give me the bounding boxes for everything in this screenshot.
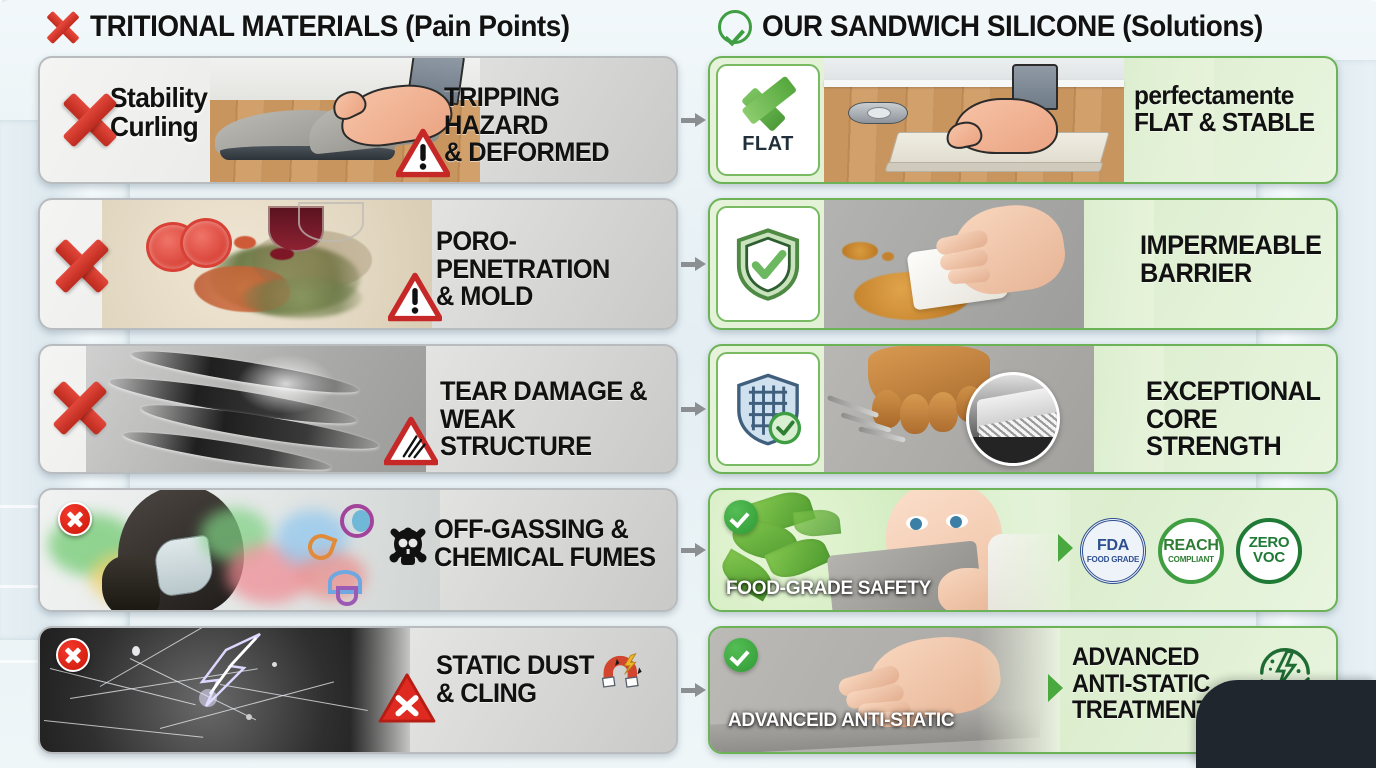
flow-arrow-row-4 — [681, 543, 705, 557]
red-x-circle-icon — [56, 638, 90, 672]
solution-card-impermeable: IMPERMEABLE BARRIER — [708, 198, 1338, 330]
cert-fda-line2: FOOD GRADE — [1087, 556, 1139, 565]
green-check-circle-icon — [724, 638, 758, 672]
food-grade-caption: FOOD-GRADE SAFETY — [726, 578, 931, 600]
header-problems: TRITIONAL MATERIALS (Pain Points) — [46, 2, 606, 52]
warning-exclamation-triangle-icon — [388, 272, 442, 322]
solution-card-food-grade: FOOD-GRADE SAFETY FDA FOOD GRADE REACH C… — [708, 488, 1338, 612]
problem-title-2: PORO-PENETRATION & MOLD — [436, 228, 662, 311]
cert-voc-line2: VOC — [1253, 550, 1285, 567]
red-x-icon — [46, 10, 80, 44]
hand-on-mat-art — [710, 628, 1060, 752]
red-x-icon — [54, 382, 106, 434]
header-problems-label: TRITIONAL MATERIALS (Pain Points) — [90, 10, 570, 44]
magnet-sparks-icon — [598, 652, 646, 700]
cert-reach-line2: COMPLIANT — [1168, 556, 1214, 565]
red-x-triangle-icon — [378, 672, 436, 724]
problem-title-3: TEAR DAMAGE & WEAK STRUCTURE — [440, 378, 662, 461]
flat-badge-label: FLAT — [742, 133, 794, 156]
flow-arrow-row-5 — [681, 683, 705, 697]
cert-zerovoc-badge: ZERO VOC — [1236, 518, 1302, 584]
problem-title-1: TRIPPING HAZARD & DEFORMED — [444, 84, 662, 167]
cert-fda-line1: FDA — [1097, 538, 1129, 554]
lightning-discharge-art — [160, 632, 280, 722]
red-x-circle-icon — [58, 502, 92, 536]
green-check-circle-icon — [718, 10, 752, 44]
solution-card-flat: FLAT perfectamente FLAT & STABLE — [708, 56, 1338, 184]
solution-card-core-strength: EXCEPTIONAL CORE STRENGTH — [708, 344, 1338, 474]
solution-title-2: IMPERMEABLE BARRIER — [1140, 232, 1321, 287]
warning-scratch-triangle-icon — [384, 416, 438, 466]
chemical-fumes-art — [40, 490, 440, 610]
flat-badge-tile: FLAT — [716, 64, 820, 176]
static-dust-art — [40, 628, 410, 752]
problem-title-5: STATIC DUST & CLING — [436, 652, 594, 707]
wipe-spill-art — [824, 200, 1084, 328]
stain-mold-art — [102, 200, 432, 328]
problem-title-4: OFF-GASSING & CHEMICAL FUMES — [434, 516, 655, 571]
antistatic-caption: ADVANCEID ANTI-STATIC — [728, 710, 954, 732]
robot-vacuum-art — [848, 102, 908, 124]
problem-card-tear: TEAR DAMAGE & WEAK STRUCTURE — [38, 344, 678, 474]
problem-card-static: STATIC DUST & CLING — [38, 626, 678, 754]
green-arrow-icon — [1058, 534, 1073, 562]
flow-arrow-row-1 — [681, 113, 705, 127]
skull-crossbones-icon — [386, 524, 430, 580]
cert-reach-line1: REACH — [1163, 538, 1218, 554]
problem-card-porosity: PORO-PENETRATION & MOLD — [38, 198, 678, 330]
paw-mesh-art — [824, 346, 1094, 472]
green-checkmark-icon — [737, 85, 799, 131]
dark-corner-shape — [1196, 680, 1376, 768]
solution-title-5: ADVANCED ANTI-STATIC TREATMENT — [1072, 644, 1210, 724]
green-arrow-icon — [1048, 674, 1063, 702]
header-solutions: OUR SANDWICH SILICONE (Solutions) — [718, 2, 1300, 52]
problem-card-offgassing: OFF-GASSING & CHEMICAL FUMES — [38, 488, 678, 612]
tear-damage-art — [86, 346, 426, 472]
red-x-icon — [56, 240, 108, 292]
red-x-icon — [64, 94, 116, 146]
green-check-circle-icon — [724, 500, 758, 534]
header-solutions-label: OUR SANDWICH SILICONE (Solutions) — [762, 10, 1263, 44]
cert-voc-line1: ZERO — [1249, 535, 1289, 550]
certification-badges: FDA FOOD GRADE REACH COMPLIANT ZERO VOC — [1080, 518, 1302, 584]
solution-title-1: perfectamente FLAT & STABLE — [1134, 82, 1314, 135]
cert-fda-badge: FDA FOOD GRADE — [1080, 518, 1146, 584]
flow-arrow-row-3 — [681, 402, 705, 416]
shield-mesh-check-icon — [734, 372, 802, 446]
shield-mesh-tile — [716, 352, 820, 466]
flow-arrow-row-2 — [681, 257, 705, 271]
cert-reach-badge: REACH COMPLIANT — [1158, 518, 1224, 584]
shield-check-tile — [716, 206, 820, 322]
problem-card-tripping: Stability Curling TRIPPING HAZARD & DEFO… — [38, 56, 678, 184]
shield-check-icon — [734, 227, 802, 301]
solution-title-3: EXCEPTIONAL CORE STRENGTH — [1146, 378, 1325, 461]
problem-overlay-label-1: Stability Curling — [110, 84, 207, 141]
warning-exclamation-triangle-icon — [396, 128, 450, 178]
